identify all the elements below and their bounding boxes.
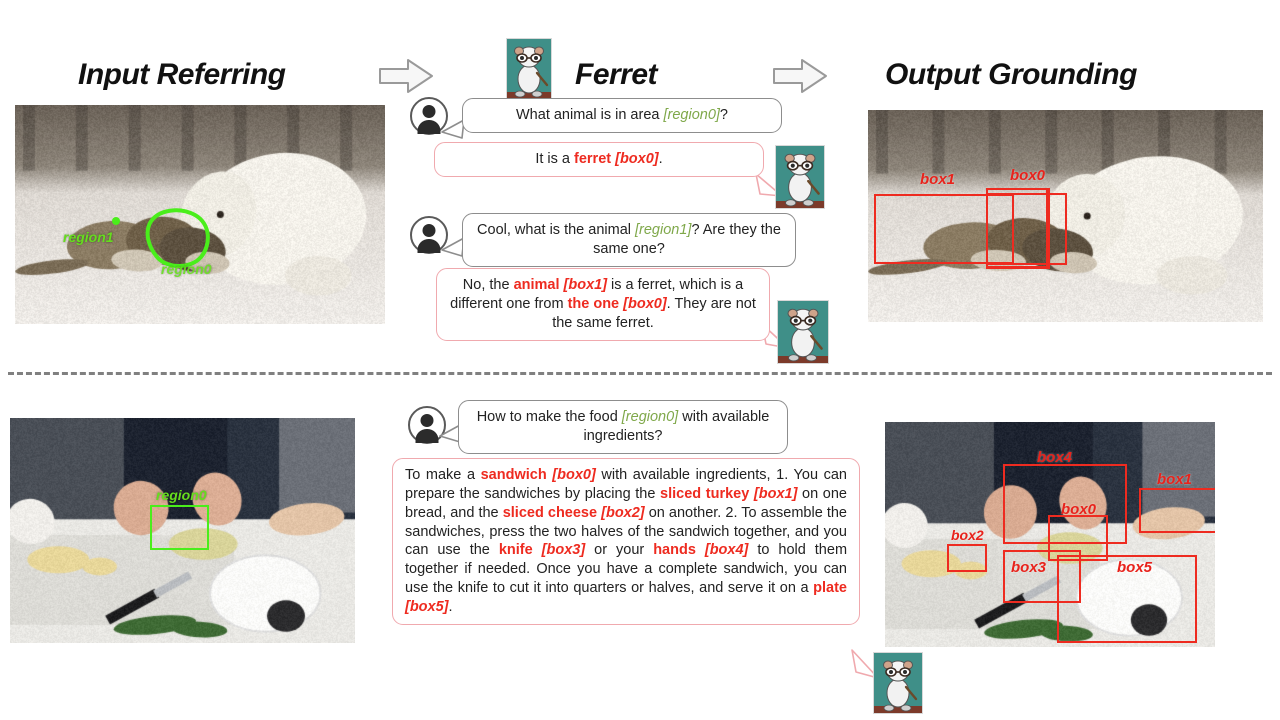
figure-header: Input Referring bbox=[0, 18, 1280, 96]
region0-label-bottom: region0 bbox=[156, 488, 207, 502]
text-span-7: sliced cheese bbox=[503, 505, 601, 521]
bottom-output-image: box4 box1 box0 box2 box3 box5 bbox=[885, 422, 1215, 647]
text-span-1: [region0] bbox=[622, 409, 678, 425]
avatar-body bbox=[418, 239, 441, 253]
box4-label: box4 bbox=[1037, 450, 1072, 465]
top-output-overlay: box1 box0 bbox=[868, 110, 1263, 322]
text-span-5: [box0] bbox=[623, 296, 667, 312]
text-span-1: [region1] bbox=[635, 222, 691, 238]
ferret-mascot-icon-answer-3 bbox=[873, 652, 923, 714]
text-span-2: [box0] bbox=[615, 151, 659, 167]
output-grounding-title: Output Grounding bbox=[885, 58, 1137, 92]
box3-label: box3 bbox=[1011, 560, 1046, 575]
text-span-1: [region0] bbox=[663, 107, 719, 123]
text-span-0: It is a bbox=[535, 151, 574, 167]
box2-label: box2 bbox=[951, 528, 984, 542]
text-span-0: What animal is in area bbox=[516, 107, 663, 123]
text-span-4: sliced turkey bbox=[660, 486, 754, 502]
bottom-input-image: region0 bbox=[10, 418, 355, 643]
text-span-2: ? bbox=[720, 107, 728, 123]
text-span-0: No, the bbox=[463, 277, 514, 293]
question-bubble-2: Cool, what is the animal [region1]? Are … bbox=[462, 213, 796, 267]
box1-rect-bottom bbox=[1139, 488, 1215, 533]
box5-label: box5 bbox=[1117, 560, 1152, 575]
ferret-model-title: Ferret bbox=[575, 58, 657, 92]
text-span-10: knife bbox=[499, 542, 542, 558]
box0-label-bottom: box0 bbox=[1061, 502, 1096, 517]
region1-label: region1 bbox=[63, 230, 114, 244]
question-bubble-1: What animal is in area [region0]? bbox=[462, 98, 782, 133]
avatar-body bbox=[418, 120, 441, 134]
answer-bubble-2: No, the animal [box1] is a ferret, which… bbox=[436, 268, 770, 341]
box2-rect bbox=[947, 544, 987, 572]
ferret-mascot-icon bbox=[506, 38, 552, 100]
text-span-12: or your bbox=[585, 542, 653, 558]
avatar-body bbox=[416, 429, 439, 443]
text-span-11: [box3] bbox=[542, 542, 586, 558]
top-input-image: region1 region0 bbox=[15, 105, 385, 324]
text-span-18: . bbox=[449, 599, 453, 615]
text-span-0: How to make the food bbox=[477, 409, 622, 425]
box0-label: box0 bbox=[1010, 168, 1045, 183]
text-span-2: [box0] bbox=[552, 467, 596, 483]
ferret-mascot-icon-answer-2 bbox=[777, 300, 829, 364]
ferret-mascot-icon-answer-1 bbox=[775, 145, 825, 209]
avatar-head bbox=[423, 105, 436, 118]
region0-rect bbox=[150, 505, 209, 550]
text-span-5: [box1] bbox=[754, 486, 798, 502]
text-span-2: [box1] bbox=[564, 277, 608, 293]
section-divider bbox=[8, 372, 1272, 375]
text-span-14: [box4] bbox=[705, 542, 749, 558]
text-span-1: animal bbox=[514, 277, 564, 293]
text-span-1: sandwich bbox=[481, 467, 553, 483]
avatar-head bbox=[421, 414, 434, 427]
question-bubble-3: How to make the food [region0] with avai… bbox=[458, 400, 788, 454]
region0-label: region0 bbox=[161, 262, 212, 276]
bottom-input-overlay: region0 bbox=[10, 418, 355, 643]
avatar-head bbox=[423, 224, 436, 237]
text-span-1: ferret bbox=[574, 151, 615, 167]
answer-bubble-3: To make a sandwich [box0] with available… bbox=[392, 458, 860, 625]
text-span-16: plate bbox=[813, 580, 847, 596]
box1-label-bottom: box1 bbox=[1157, 472, 1192, 487]
text-span-4: the one bbox=[568, 296, 624, 312]
top-input-overlay: region1 region0 bbox=[15, 105, 385, 324]
text-span-3: . bbox=[659, 151, 663, 167]
figure-root: Input Referring bbox=[0, 0, 1280, 720]
right-arrow-icon-2 bbox=[772, 56, 828, 96]
bottom-output-overlay: box4 box1 box0 box2 box3 box5 bbox=[885, 422, 1215, 647]
text-span-17: [box5] bbox=[405, 599, 449, 615]
right-arrow-icon bbox=[378, 56, 434, 96]
answer-bubble-1: It is a ferret [box0]. bbox=[434, 142, 764, 177]
text-span-0: Cool, what is the animal bbox=[477, 222, 635, 238]
input-referring-title: Input Referring bbox=[78, 58, 286, 92]
text-span-8: [box2] bbox=[601, 505, 645, 521]
top-output-image: box1 box0 bbox=[868, 110, 1263, 322]
box1-label: box1 bbox=[920, 172, 955, 187]
text-span-13: hands bbox=[653, 542, 705, 558]
text-span-0: To make a bbox=[405, 467, 481, 483]
